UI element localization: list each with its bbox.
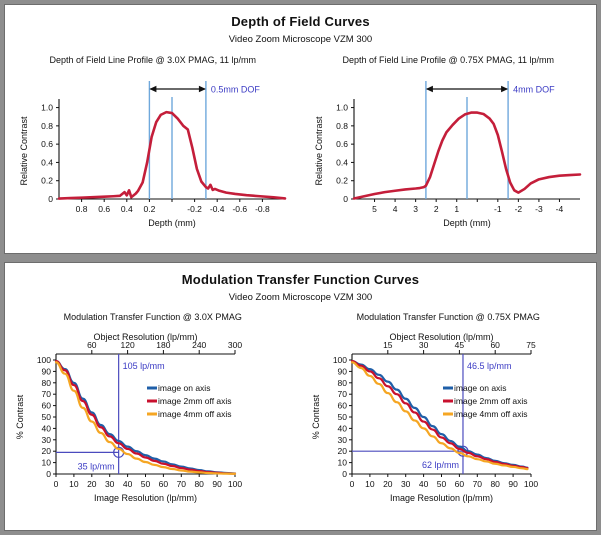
x-tick-label: -4	[556, 204, 564, 214]
top-tick-label: 240	[192, 340, 206, 350]
x-tick-label: 100	[228, 479, 242, 489]
y-tick-label: 0.2	[336, 176, 348, 186]
legend-label-1: image 2mm off axis	[158, 396, 232, 406]
chart-dof-3x-title: Depth of Field Line Profile @ 3.0X PMAG,…	[13, 55, 293, 65]
x-tick-label: -1	[494, 204, 502, 214]
mtf-panel-title: Modulation Transfer Function Curves	[5, 272, 596, 287]
legend-label-2: image 4mm off axis	[454, 409, 528, 419]
mtf-top-annotation: 46.5 lp/mm	[467, 361, 512, 371]
y-tick-label: 20	[42, 446, 52, 456]
top-tick-label: 30	[419, 340, 429, 350]
legend-label-1: image 2mm off axis	[454, 396, 528, 406]
x-tick-label: 2	[434, 204, 439, 214]
y-tick-label: 30	[42, 435, 52, 445]
x-tick-label: 10	[69, 479, 79, 489]
y-tick-label: 40	[42, 423, 52, 433]
arrow-head-right	[199, 86, 206, 92]
chart-mtf-3x: Modulation Transfer Function @ 3.0X PMAG…	[10, 312, 295, 518]
y-tick-label: 0	[48, 194, 53, 204]
y-tick-label: 80	[42, 378, 52, 388]
x-tick-label: 70	[177, 479, 187, 489]
y-tick-label: 70	[337, 389, 347, 399]
x-tick-label: -0.4	[210, 204, 225, 214]
x-axis-label: Depth (mm)	[148, 218, 196, 228]
arrow-head-right	[501, 86, 508, 92]
x-tick-label: 0	[349, 479, 354, 489]
x-tick-label: 50	[141, 479, 151, 489]
chart-mtf-075x: Modulation Transfer Function @ 0.75X PMA…	[306, 312, 591, 518]
y-tick-label: 100	[37, 355, 51, 365]
top-tick-label: 180	[157, 340, 171, 350]
top-tick-label: 120	[121, 340, 135, 350]
y-tick-label: 10	[337, 458, 347, 468]
x-tick-label: 80	[195, 479, 205, 489]
y-tick-label: 30	[337, 435, 347, 445]
y-tick-label: 0.4	[41, 157, 53, 167]
x-tick-label: 0.4	[121, 204, 133, 214]
x-tick-label: 90	[508, 479, 518, 489]
top-tick-label: 60	[490, 340, 500, 350]
mtf-panel-subtitle: Video Zoom Microscope VZM 300	[5, 292, 596, 303]
top-axis-label: Object Resolution (lp/mm)	[389, 332, 493, 342]
y-tick-label: 0	[344, 194, 349, 204]
arrow-head-left	[426, 86, 433, 92]
x-tick-label: 70	[472, 479, 482, 489]
mtf-bottom-annotation: 62 lp/mm	[422, 460, 459, 470]
y-axis-label: Relative Contrast	[314, 116, 324, 186]
y-tick-label: 50	[42, 412, 52, 422]
x-tick-label: 90	[213, 479, 223, 489]
depth-of-field-panel: Depth of Field Curves Video Zoom Microsc…	[4, 4, 597, 254]
y-tick-label: 0.6	[41, 139, 53, 149]
y-tick-label: 0.8	[336, 121, 348, 131]
x-tick-label: 40	[419, 479, 429, 489]
y-tick-label: 0	[47, 469, 52, 479]
y-tick-label: 20	[337, 446, 347, 456]
chart-dof-075x-plot: 00.20.40.60.81.054321-1-2-3-4Depth (mm)R…	[308, 65, 588, 235]
y-tick-label: 0	[342, 469, 347, 479]
arrow-head-left	[149, 86, 156, 92]
x-tick-label: 0.6	[98, 204, 110, 214]
mtf-bottom-annotation: 35 lp/mm	[78, 461, 115, 471]
x-tick-label: 0.8	[75, 204, 87, 214]
y-tick-label: 60	[42, 401, 52, 411]
y-tick-label: 50	[337, 412, 347, 422]
legend-label-0: image on axis	[454, 383, 506, 393]
x-tick-label: 50	[437, 479, 447, 489]
x-tick-label: -0.6	[232, 204, 247, 214]
x-tick-label: -3	[535, 204, 543, 214]
y-tick-label: 90	[42, 366, 52, 376]
x-tick-label: -0.2	[187, 204, 202, 214]
dof-panel-subtitle: Video Zoom Microscope VZM 300	[5, 34, 596, 45]
top-tick-label: 15	[383, 340, 393, 350]
chart-mtf-3x-title: Modulation Transfer Function @ 3.0X PMAG	[10, 312, 295, 322]
chart-dof-3x-plot: 00.20.40.60.81.00.80.60.40.2-0.2-0.4-0.6…	[13, 65, 293, 235]
top-tick-label: 45	[454, 340, 464, 350]
chart-mtf-075x-plot: Object Resolution (lp/mm)153045607501020…	[306, 322, 591, 518]
dof-panel-title: Depth of Field Curves	[5, 14, 596, 29]
dof-annotation-label: 4mm DOF	[513, 85, 555, 95]
x-tick-label: -0.8	[255, 204, 270, 214]
top-tick-label: 60	[87, 340, 97, 350]
legend-label-2: image 4mm off axis	[158, 409, 232, 419]
x-axis-label: Image Resolution (lp/mm)	[390, 493, 493, 503]
x-tick-label: 20	[87, 479, 97, 489]
y-tick-label: 60	[337, 401, 347, 411]
mtf-top-annotation: 105 lp/mm	[123, 361, 165, 371]
y-tick-label: 40	[337, 423, 347, 433]
top-axis-label: Object Resolution (lp/mm)	[94, 332, 198, 342]
chart-dof-075x-title: Depth of Field Line Profile @ 0.75X PMAG…	[308, 55, 588, 65]
x-tick-label: 60	[454, 479, 464, 489]
x-tick-label: 0	[54, 479, 59, 489]
y-tick-label: 0.4	[336, 157, 348, 167]
mtf-panel: Modulation Transfer Function Curves Vide…	[4, 262, 597, 531]
page-root: Depth of Field Curves Video Zoom Microsc…	[0, 0, 601, 535]
x-tick-label: 1	[455, 204, 460, 214]
chart-mtf-075x-title: Modulation Transfer Function @ 0.75X PMA…	[306, 312, 591, 322]
y-tick-label: 0.6	[336, 139, 348, 149]
y-tick-label: 0.2	[41, 176, 53, 186]
y-tick-label: 10	[42, 458, 52, 468]
x-tick-label: 3	[414, 204, 419, 214]
x-tick-label: 40	[123, 479, 133, 489]
y-tick-label: 1.0	[336, 103, 348, 113]
chart-dof-3x: Depth of Field Line Profile @ 3.0X PMAG,…	[13, 55, 293, 235]
x-axis-label: Image Resolution (lp/mm)	[94, 493, 197, 503]
y-tick-label: 1.0	[41, 103, 53, 113]
y-axis-label: % Contrast	[311, 394, 321, 439]
x-tick-label: 60	[159, 479, 169, 489]
y-tick-label: 90	[337, 366, 347, 376]
x-tick-label: -2	[515, 204, 523, 214]
x-axis-label: Depth (mm)	[443, 218, 491, 228]
y-tick-label: 70	[42, 389, 52, 399]
dof-annotation-label: 0.5mm DOF	[211, 85, 261, 95]
y-tick-label: 80	[337, 378, 347, 388]
x-tick-label: 20	[383, 479, 393, 489]
y-tick-label: 100	[333, 355, 347, 365]
x-tick-label: 4	[393, 204, 398, 214]
top-tick-label: 75	[526, 340, 536, 350]
x-tick-label: 10	[365, 479, 375, 489]
top-tick-label: 300	[228, 340, 242, 350]
chart-mtf-3x-plot: Object Resolution (lp/mm)601201802403000…	[10, 322, 295, 518]
legend-label-0: image on axis	[158, 383, 210, 393]
x-tick-label: 30	[105, 479, 115, 489]
y-tick-label: 0.8	[41, 121, 53, 131]
x-tick-label: 30	[401, 479, 411, 489]
x-tick-label: 100	[524, 479, 538, 489]
x-tick-label: 80	[490, 479, 500, 489]
x-tick-label: 5	[372, 204, 377, 214]
y-axis-label: Relative Contrast	[19, 116, 29, 186]
x-tick-label: 0.2	[143, 204, 155, 214]
chart-dof-075x: Depth of Field Line Profile @ 0.75X PMAG…	[308, 55, 588, 235]
y-axis-label: % Contrast	[15, 394, 25, 439]
